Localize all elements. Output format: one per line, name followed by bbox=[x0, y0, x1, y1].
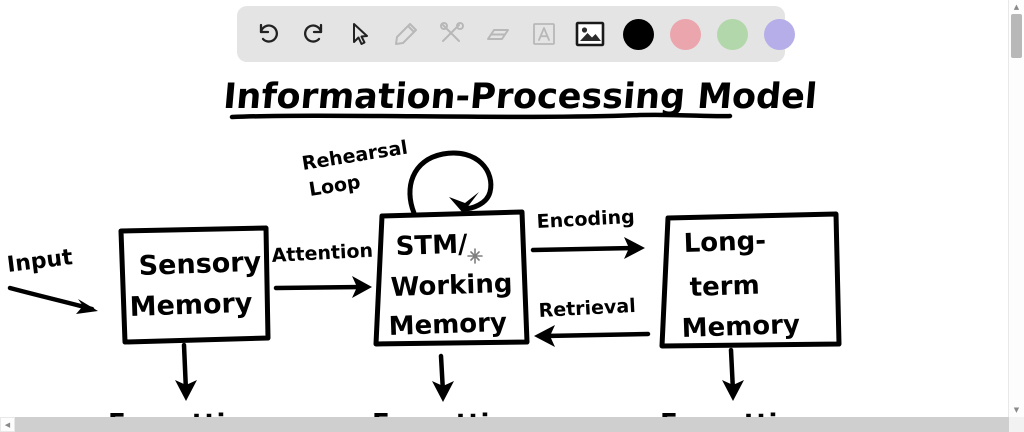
forgetting-arrow-2 bbox=[432, 356, 454, 402]
eraser-icon[interactable] bbox=[478, 14, 518, 54]
forgetting-label-3: Forgetting bbox=[660, 409, 815, 417]
sensory-memory-box[interactable]: Sensory Memory bbox=[121, 228, 268, 342]
select-icon[interactable] bbox=[340, 14, 380, 54]
cursor-artifact bbox=[468, 249, 482, 263]
rehearsal-loop-label-line1: Rehearsal bbox=[300, 137, 409, 175]
diagram-title-text: Information-Processing Model bbox=[222, 76, 819, 117]
ltm-line-2: term bbox=[689, 271, 760, 303]
stm-working-memory-box[interactable]: STM/ Working Memory bbox=[376, 212, 527, 344]
retrieval-arrow-group: Retrieval bbox=[534, 295, 648, 347]
diagram-title: Information-Processing Model bbox=[222, 76, 819, 117]
retrieval-label: Retrieval bbox=[538, 295, 636, 322]
attention-label: Attention bbox=[271, 240, 373, 267]
sensory-memory-line-1: Sensory bbox=[138, 247, 262, 282]
scroll-down-icon[interactable]: ▼ bbox=[1009, 403, 1024, 417]
image-icon[interactable] bbox=[570, 14, 610, 54]
stm-line-1: STM/ bbox=[395, 229, 468, 262]
pencil-icon[interactable] bbox=[386, 14, 426, 54]
ltm-line-3: Memory bbox=[681, 310, 800, 344]
stm-line-3: Memory bbox=[388, 308, 507, 342]
drawing-canvas[interactable]: .ink { stroke:#000; fill:none; stroke-li… bbox=[0, 0, 1009, 417]
encoding-label: Encoding bbox=[536, 206, 635, 233]
encoding-arrow-group: Encoding bbox=[533, 206, 645, 259]
vertical-scrollbar-thumb[interactable] bbox=[1011, 14, 1022, 58]
color-black[interactable] bbox=[623, 19, 654, 50]
forgetting-label-2: Forgetting bbox=[372, 409, 527, 417]
text-icon[interactable] bbox=[524, 14, 564, 54]
forgetting-label-1: Forgetting bbox=[108, 409, 263, 417]
horizontal-scrollbar[interactable]: ◀ ▶ bbox=[0, 417, 1024, 432]
forgetting-labels-cutoff: Forgetting Forgetting Forgetting bbox=[108, 409, 815, 417]
scroll-up-icon[interactable]: ▲ bbox=[1009, 0, 1024, 14]
scrollbar-corner bbox=[1009, 417, 1024, 432]
rehearsal-loop-annotation: Rehearsal Loop bbox=[300, 137, 491, 213]
redo-icon[interactable] bbox=[294, 14, 334, 54]
forgetting-arrow-1 bbox=[175, 345, 197, 401]
drawing-toolbar[interactable] bbox=[237, 6, 785, 62]
stm-line-2: Working bbox=[390, 269, 513, 303]
color-pink[interactable] bbox=[670, 19, 701, 50]
scroll-left-icon[interactable]: ◀ bbox=[0, 417, 15, 432]
forgetting-arrow-3 bbox=[722, 350, 744, 401]
color-green[interactable] bbox=[717, 19, 748, 50]
handwritten-diagram: .ink { stroke:#000; fill:none; stroke-li… bbox=[0, 0, 1009, 417]
rehearsal-loop-label-line2: Loop bbox=[307, 171, 362, 201]
ltm-line-1: Long- bbox=[683, 226, 766, 259]
input-label: Input bbox=[6, 245, 75, 278]
undo-icon[interactable] bbox=[248, 14, 288, 54]
color-purple[interactable] bbox=[764, 19, 795, 50]
sensory-memory-line-2: Memory bbox=[129, 288, 253, 323]
shapes-icon[interactable] bbox=[432, 14, 472, 54]
attention-arrow-group: Attention bbox=[271, 240, 373, 298]
long-term-memory-box[interactable]: Long- term Memory bbox=[662, 214, 839, 346]
vertical-scrollbar[interactable]: ▲ ▼ bbox=[1008, 0, 1024, 417]
input-arrow-group: Input bbox=[6, 245, 98, 314]
